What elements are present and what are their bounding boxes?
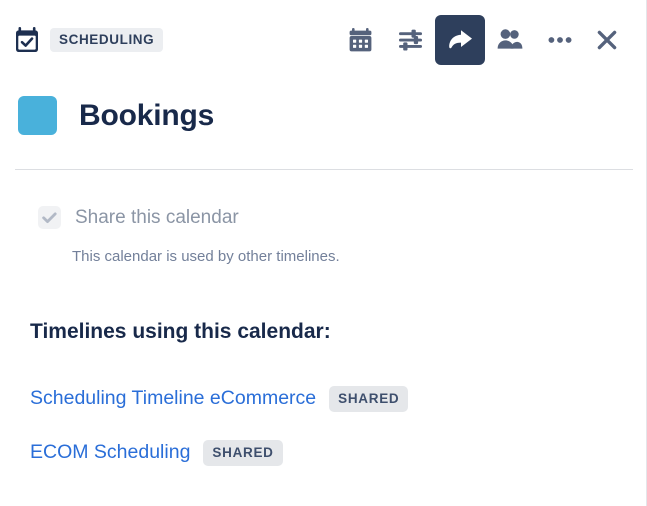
panel-header: SCHEDULING bbox=[0, 0, 647, 80]
share-calendar-row[interactable]: Share this calendar bbox=[38, 206, 239, 229]
header-left-group: SCHEDULING bbox=[0, 27, 163, 53]
list-item: Scheduling Timeline eCommerce SHARED bbox=[30, 385, 620, 413]
share-calendar-panel: SCHEDULING bbox=[0, 0, 647, 506]
people-icon bbox=[497, 29, 523, 51]
share-arrow-icon bbox=[447, 28, 473, 52]
people-button[interactable] bbox=[485, 15, 535, 65]
share-calendar-checkbox[interactable] bbox=[38, 206, 61, 229]
share-button[interactable] bbox=[435, 15, 485, 65]
sliders-icon bbox=[398, 29, 423, 51]
scheduling-tag: SCHEDULING bbox=[50, 28, 163, 52]
calendar-icon bbox=[349, 28, 372, 52]
calendar-view-button[interactable] bbox=[335, 15, 385, 65]
timelines-heading: Timelines using this calendar: bbox=[30, 321, 331, 342]
page-title: Bookings bbox=[79, 101, 214, 131]
timelines-list: Scheduling Timeline eCommerce SHARED ECO… bbox=[30, 385, 620, 493]
share-calendar-description: This calendar is used by other timelines… bbox=[72, 248, 340, 266]
close-button[interactable] bbox=[585, 15, 629, 65]
header-divider bbox=[15, 169, 633, 170]
timeline-link[interactable]: Scheduling Timeline eCommerce bbox=[30, 389, 316, 409]
list-item: ECOM Scheduling SHARED bbox=[30, 439, 620, 467]
timeline-link[interactable]: ECOM Scheduling bbox=[30, 443, 190, 463]
filters-button[interactable] bbox=[385, 15, 435, 65]
status-badge: SHARED bbox=[203, 440, 282, 466]
calendar-check-icon bbox=[15, 27, 39, 53]
status-badge: SHARED bbox=[329, 386, 408, 412]
share-calendar-label: Share this calendar bbox=[75, 208, 239, 227]
check-icon bbox=[42, 212, 57, 224]
more-options-button[interactable] bbox=[535, 15, 585, 65]
calendar-color-swatch[interactable] bbox=[18, 96, 57, 135]
page-title-row: Bookings bbox=[18, 96, 214, 135]
header-actions bbox=[335, 15, 647, 65]
close-icon bbox=[596, 29, 618, 51]
ellipsis-icon bbox=[548, 36, 572, 44]
